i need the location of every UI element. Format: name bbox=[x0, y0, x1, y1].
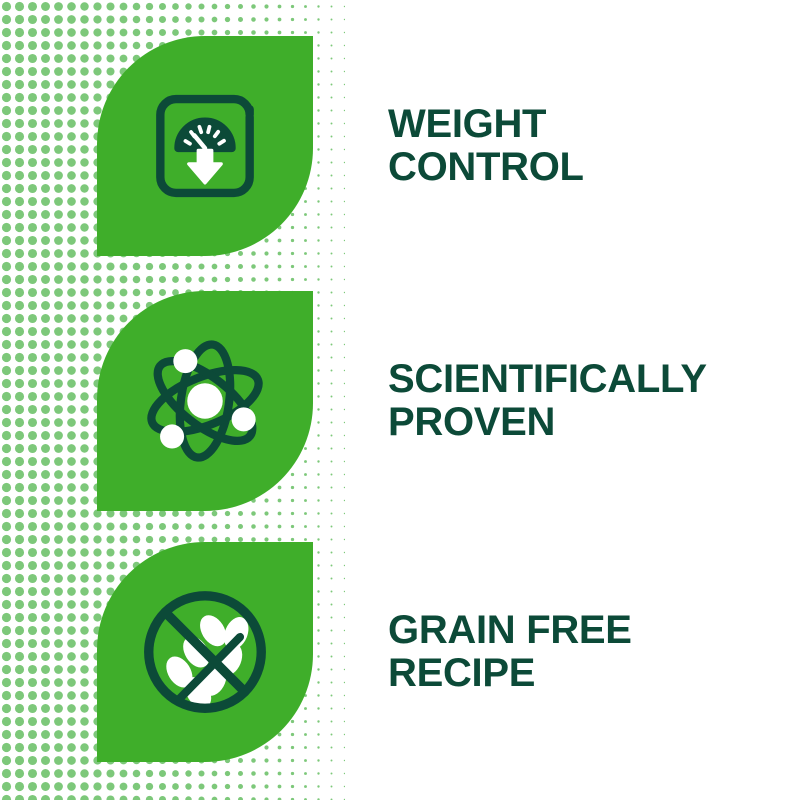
atom-electron bbox=[173, 349, 197, 373]
feature-row: WEIGHT CONTROL bbox=[0, 36, 800, 256]
feature-label-line: PROVEN bbox=[388, 401, 707, 444]
leaf-badge-scientifically-proven[interactable] bbox=[97, 291, 313, 511]
no-grain-icon bbox=[130, 577, 280, 727]
infographic-canvas: WEIGHT CONTROL SCIENTIFICA bbox=[0, 0, 800, 800]
feature-label-weight-control: WEIGHT CONTROL bbox=[388, 36, 584, 256]
feature-label-line: SCIENTIFICALLY bbox=[388, 358, 707, 401]
atom-electron bbox=[232, 407, 256, 431]
atom-electron bbox=[160, 424, 184, 448]
feature-label-scientifically-proven: SCIENTIFICALLY PROVEN bbox=[388, 291, 707, 511]
leaf-badge-weight-control[interactable] bbox=[97, 36, 313, 256]
feature-label-grain-free-recipe: GRAIN FREE RECIPE bbox=[388, 542, 632, 762]
atom-nucleus bbox=[187, 383, 222, 418]
feature-row: GRAIN FREE RECIPE bbox=[0, 542, 800, 762]
feature-label-line: WEIGHT bbox=[388, 103, 584, 146]
feature-label-line: GRAIN FREE bbox=[388, 609, 632, 652]
weight-scale-icon bbox=[138, 79, 272, 213]
feature-label-line: RECIPE bbox=[388, 652, 632, 695]
feature-row: SCIENTIFICALLY PROVEN bbox=[0, 291, 800, 511]
atom-icon bbox=[129, 325, 281, 477]
feature-label-line: CONTROL bbox=[388, 146, 584, 189]
leaf-badge-grain-free-recipe[interactable] bbox=[97, 542, 313, 762]
